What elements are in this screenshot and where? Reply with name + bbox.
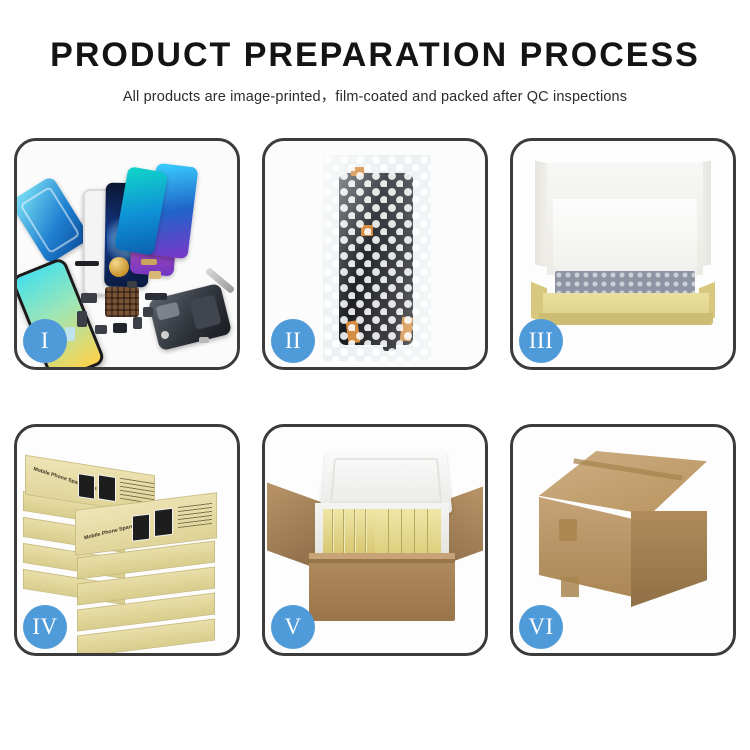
wrapped-contents <box>555 271 695 295</box>
process-step-4: Mobile Phone Spare Parts Mobile Phone Sp… <box>14 424 240 656</box>
small-part <box>161 331 169 339</box>
box-lid-phone-image <box>154 508 173 537</box>
step-badge-6: VI <box>519 605 563 649</box>
carton-front <box>309 559 455 621</box>
small-part <box>199 337 209 343</box>
yellow-package <box>323 509 333 553</box>
coil-component <box>109 257 129 277</box>
box-lid-phone-image <box>98 474 116 502</box>
small-part <box>149 271 161 279</box>
process-step-6: VI <box>510 424 736 656</box>
box-lid-phone-image <box>132 514 150 542</box>
small-part <box>141 259 157 265</box>
small-part <box>133 317 142 329</box>
page-title: PRODUCT PREPARATION PROCESS <box>0 38 750 74</box>
yellow-package <box>334 509 344 553</box>
header: PRODUCT PREPARATION PROCESS All products… <box>0 0 750 106</box>
foam-box-contents <box>323 509 441 553</box>
step-badge-3: III <box>519 319 563 363</box>
small-part <box>127 281 137 288</box>
process-step-3: III <box>510 138 736 370</box>
yellow-package-group <box>375 509 441 553</box>
product-preparation-infographic: PRODUCT PREPARATION PROCESS All products… <box>0 0 750 750</box>
small-part <box>143 307 153 317</box>
process-step-grid: I II <box>14 138 736 656</box>
foam-lining <box>553 199 697 277</box>
box-front-edge <box>539 313 713 325</box>
small-part <box>113 323 127 333</box>
step-badge-1: I <box>23 319 67 363</box>
small-part <box>81 293 97 303</box>
carton-fold-line <box>309 559 455 563</box>
small-part <box>145 293 167 300</box>
process-step-5: V <box>262 424 488 656</box>
small-part <box>95 325 107 334</box>
process-step-1: I <box>14 138 240 370</box>
carton-front-face <box>539 497 633 597</box>
small-part <box>75 261 99 266</box>
adhesive-sheet <box>17 175 91 264</box>
carton-tape-upper <box>559 519 577 541</box>
yellow-package <box>356 509 366 553</box>
box-lid-text-lines <box>178 502 212 528</box>
process-step-2: II <box>262 138 488 370</box>
chip-grid-component <box>105 287 139 317</box>
yellow-package <box>345 509 355 553</box>
box-lid-phone-image <box>78 473 95 500</box>
page-subtitle: All products are image-printed，film-coat… <box>0 85 750 106</box>
carton-side-face <box>631 511 707 607</box>
step-badge-5: V <box>271 605 315 649</box>
carton-tape-lower <box>561 577 579 597</box>
step-badge-2: II <box>271 319 315 363</box>
bag-highlight <box>323 155 431 361</box>
bubble-bag <box>323 155 431 361</box>
small-part <box>77 311 87 327</box>
step-badge-4: IV <box>23 605 67 649</box>
